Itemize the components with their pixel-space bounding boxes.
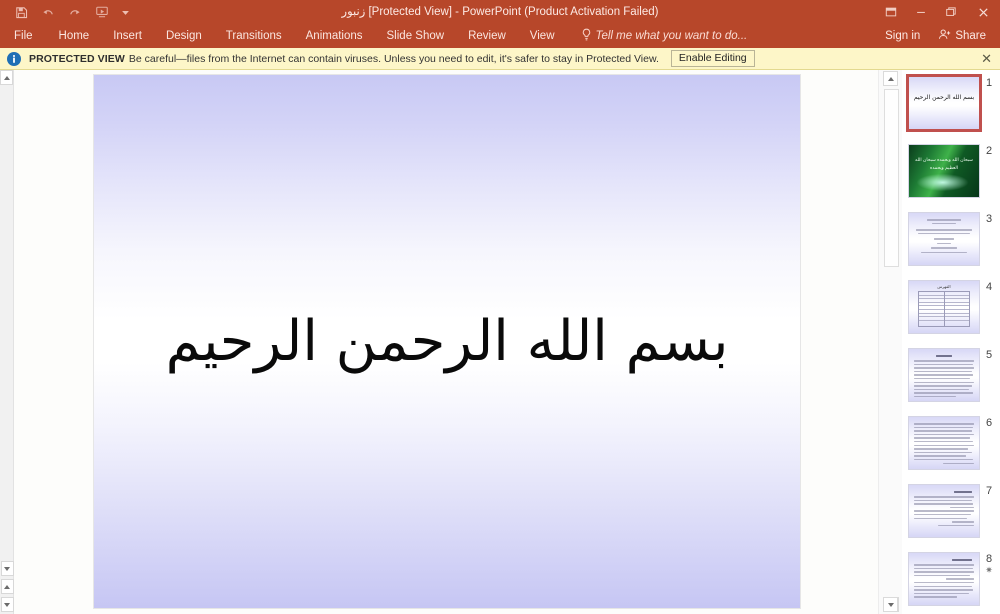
chevron-up-icon <box>4 585 10 589</box>
left-rail-top-button[interactable] <box>0 70 13 85</box>
table-row <box>945 317 970 321</box>
share-person-icon <box>938 28 951 44</box>
table-row <box>919 317 944 321</box>
thumbnail-slide-5[interactable]: 5 <box>902 348 1000 402</box>
tab-review[interactable]: Review <box>456 24 518 48</box>
tab-slide-show[interactable]: Slide Show <box>375 24 457 48</box>
ribbon-tab-bar: File Home Insert Design Transitions Anim… <box>0 24 1000 48</box>
scroll-up-icon <box>4 76 10 80</box>
chevron-down-icon <box>4 567 10 571</box>
thumbnail-slide-6[interactable]: 6 <box>902 416 1000 470</box>
thumbnail-slide-5-content <box>914 355 974 395</box>
powerpoint-window: زنبور [Protected View] - PowerPoint (Pro… <box>0 0 1000 614</box>
undo-icon[interactable] <box>35 1 61 23</box>
protected-view-badge: PROTECTED VIEW <box>29 53 125 65</box>
thumbnail-slide-4-number: 4 <box>980 280 998 293</box>
thumbnail-slide-3-content <box>914 219 974 259</box>
lightbulb-icon <box>581 28 592 44</box>
tell-me-search[interactable]: Tell me what you want to do... <box>581 28 748 44</box>
chevron-down-double-icon <box>4 603 10 607</box>
window-title: زنبور [Protected View] - PowerPoint (Pro… <box>0 0 1000 24</box>
table-column <box>945 292 970 326</box>
thumbpane-scroll-down-button[interactable] <box>883 597 898 612</box>
thumbnail-slide-8-label: 8 <box>986 553 992 565</box>
slide-title-text: بسم الله الرحمن الرحيم <box>94 307 800 377</box>
info-shield-icon <box>6 51 22 67</box>
restore-icon[interactable] <box>936 0 966 24</box>
tab-design[interactable]: Design <box>154 24 214 48</box>
thumbnail-slide-8-content <box>914 559 974 599</box>
scrollbar-up-button[interactable] <box>883 71 898 86</box>
slide-position-button[interactable] <box>1 579 14 594</box>
enable-editing-button[interactable]: Enable Editing <box>671 50 755 67</box>
tab-transitions[interactable]: Transitions <box>214 24 294 48</box>
redo-icon[interactable] <box>62 1 88 23</box>
thumbnail-slide-6-number: 6 <box>980 416 998 429</box>
thumbnail-slide-7-preview[interactable] <box>908 484 980 538</box>
scroll-down-icon <box>888 603 894 607</box>
thumbnail-slide-7[interactable]: 7 <box>902 484 1000 538</box>
thumbnail-slide-1-number: 1 <box>980 76 998 89</box>
share-label: Share <box>955 30 986 42</box>
ribbon-display-options-icon[interactable] <box>876 0 906 24</box>
dismiss-protected-view-icon[interactable]: ✕ <box>981 51 992 67</box>
thumbnail-slide-1[interactable]: بسم الله الرحمن الرحيم 1 <box>902 76 1000 130</box>
thumbnail-slide-5-number: 5 <box>980 348 998 361</box>
thumbnail-slide-7-number: 7 <box>980 484 998 497</box>
title-bar: زنبور [Protected View] - PowerPoint (Pro… <box>0 0 1000 24</box>
tell-me-label: Tell me what you want to do... <box>596 30 748 42</box>
thumbnail-slide-6-preview[interactable] <box>908 416 980 470</box>
thumbnail-slide-8-number: 8 ✷ <box>980 552 998 575</box>
save-icon[interactable] <box>8 1 34 23</box>
thumbnail-slide-3-number: 3 <box>980 212 998 225</box>
previous-slide-button[interactable] <box>1 561 14 576</box>
table-column <box>919 292 945 326</box>
thumbnail-slide-6-content <box>914 423 974 463</box>
thumbnail-slide-3[interactable]: 3 <box>902 212 1000 266</box>
thumbnail-slide-4-table <box>918 291 970 327</box>
workspace: بسم الله الرحمن الرحيم بسم الله الرحمن ا… <box>0 70 1000 614</box>
slide-canvas-area: بسم الله الرحمن الرحيم <box>14 70 878 614</box>
thumbnail-slide-2-number: 2 <box>980 144 998 157</box>
tab-animations[interactable]: Animations <box>294 24 375 48</box>
thumbnail-slide-3-preview[interactable] <box>908 212 980 266</box>
tab-file[interactable]: File <box>0 24 47 48</box>
thumbnail-slide-4-preview[interactable]: الفهرس <box>908 280 980 334</box>
slide-vertical-scrollbar[interactable] <box>878 70 902 614</box>
thumbnail-slide-4-title: الفهرس <box>909 284 979 289</box>
next-slide-button[interactable] <box>1 597 14 612</box>
customize-qat-icon[interactable] <box>116 1 134 23</box>
scrollbar-thumb[interactable] <box>884 89 899 267</box>
minimize-icon[interactable] <box>906 0 936 24</box>
ribbon-right-cluster: Sign in Share <box>877 24 996 48</box>
start-slideshow-icon[interactable] <box>89 1 115 23</box>
thumbnail-slide-2-preview[interactable]: سبحان الله وبحمده سبحان الله العظيم وبحم… <box>908 144 980 198</box>
protected-view-bar: PROTECTED VIEW Be careful—files from the… <box>0 48 1000 70</box>
tab-home[interactable]: Home <box>47 24 102 48</box>
share-button[interactable]: Share <box>932 26 996 46</box>
slide-thumbnail-pane[interactable]: بسم الله الرحمن الرحيم 1 سبحان الله وبحم… <box>902 70 1000 614</box>
thumbnail-slide-2[interactable]: سبحان الله وبحمده سبحان الله العظيم وبحم… <box>902 144 1000 198</box>
thumbnail-slide-4[interactable]: الفهرس <box>902 280 1000 334</box>
animation-star-icon[interactable]: ✷ <box>980 565 998 575</box>
current-slide[interactable]: بسم الله الرحمن الرحيم <box>94 75 800 608</box>
scrollbar-up-icon <box>888 77 894 81</box>
thumbnail-slide-2-text: سبحان الله وبحمده سبحان الله العظيم وبحم… <box>914 157 974 172</box>
quick-access-toolbar <box>0 1 134 23</box>
thumbnail-slide-5-preview[interactable] <box>908 348 980 402</box>
protected-view-message: Be careful—files from the Internet can c… <box>129 53 659 65</box>
left-rail-bottom-buttons <box>0 561 14 612</box>
thumbnail-slide-8[interactable]: 8 ✷ <box>902 552 1000 606</box>
left-scroll-rail <box>0 70 14 614</box>
window-controls <box>876 0 1000 24</box>
thumbnail-slide-8-preview[interactable] <box>908 552 980 606</box>
close-icon[interactable] <box>966 0 1000 24</box>
tab-view[interactable]: View <box>518 24 567 48</box>
sign-in-button[interactable]: Sign in <box>877 30 928 42</box>
thumbnail-slide-1-text: بسم الله الرحمن الرحيم <box>909 94 979 101</box>
tab-insert[interactable]: Insert <box>101 24 154 48</box>
thumbnail-slide-1-preview[interactable]: بسم الله الرحمن الرحيم <box>908 76 980 130</box>
thumbnail-slide-7-content <box>914 491 974 531</box>
